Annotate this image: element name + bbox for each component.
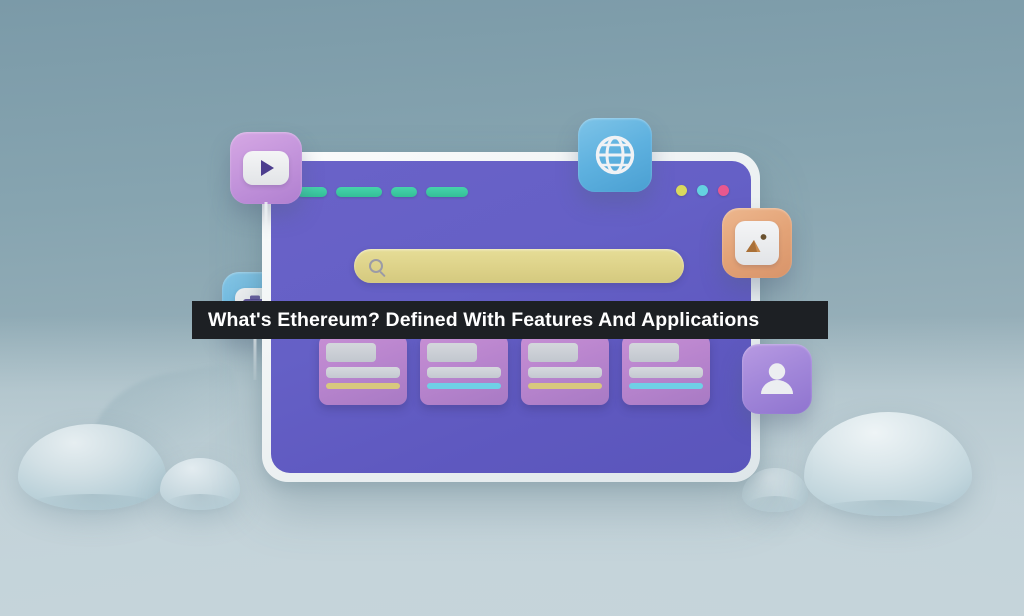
user-icon	[756, 358, 798, 400]
nav-pill-2[interactable]	[336, 187, 382, 197]
caption-title: What's Ethereum? Defined With Features A…	[208, 309, 759, 332]
globe-icon	[592, 132, 638, 178]
image-icon	[735, 221, 779, 265]
play-icon	[243, 151, 289, 185]
illustration-scene: What's Ethereum? Defined With Features A…	[0, 0, 1024, 616]
content-card[interactable]	[521, 335, 609, 405]
image-icon-tile[interactable]	[722, 208, 792, 278]
user-icon-tile[interactable]	[742, 344, 812, 414]
search-input[interactable]	[392, 259, 684, 273]
card-thumbnail	[427, 343, 477, 362]
globe-icon-tile[interactable]	[578, 118, 652, 192]
search-bar[interactable]	[354, 249, 684, 283]
card-accent-cyan	[629, 383, 703, 389]
content-card[interactable]	[622, 335, 710, 405]
card-title-bar	[326, 367, 400, 378]
nav-pill-4[interactable]	[426, 187, 468, 197]
play-triangle	[261, 160, 274, 176]
tile-stem	[265, 202, 268, 246]
card-accent-yellow	[528, 383, 602, 389]
window-control-dots	[676, 185, 729, 196]
tile-stem	[254, 336, 257, 380]
card-title-bar	[427, 367, 501, 378]
card-title-bar	[528, 367, 602, 378]
caption-bar: What's Ethereum? Defined With Features A…	[192, 301, 828, 339]
card-title-bar	[629, 367, 703, 378]
card-grid	[319, 335, 710, 405]
nav-pill-group	[297, 187, 468, 197]
play-icon-tile[interactable]	[230, 132, 302, 204]
card-thumbnail	[528, 343, 578, 362]
search-icon	[369, 259, 383, 273]
card-accent-yellow	[326, 383, 400, 389]
card-thumbnail	[629, 343, 679, 362]
dot-yellow[interactable]	[676, 185, 687, 196]
decor-dome-large-right	[804, 412, 972, 516]
content-card[interactable]	[319, 335, 407, 405]
card-accent-cyan	[427, 383, 501, 389]
nav-pill-3[interactable]	[391, 187, 417, 197]
dot-pink[interactable]	[718, 185, 729, 196]
card-thumbnail	[326, 343, 376, 362]
dot-cyan[interactable]	[697, 185, 708, 196]
content-card[interactable]	[420, 335, 508, 405]
